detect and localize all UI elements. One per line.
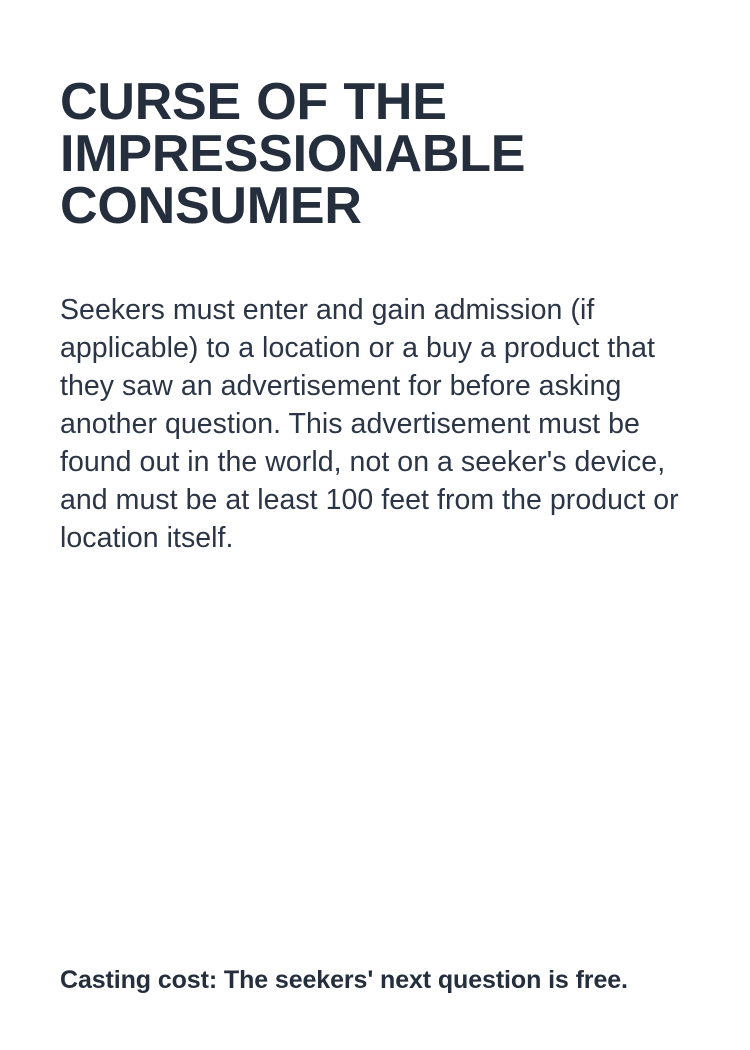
casting-cost-text: Casting cost: The seekers' next question… [60, 963, 705, 997]
card-content: Curse of the Impressionable Consumer See… [0, 0, 750, 557]
card-title: Curse of the Impressionable Consumer [60, 0, 705, 232]
card-footer: Casting cost: The seekers' next question… [0, 963, 750, 1050]
card-spacer [0, 557, 750, 963]
card-description: Seekers must enter and gain admission (i… [60, 232, 705, 557]
curse-card: Curse of the Impressionable Consumer See… [0, 0, 750, 1050]
